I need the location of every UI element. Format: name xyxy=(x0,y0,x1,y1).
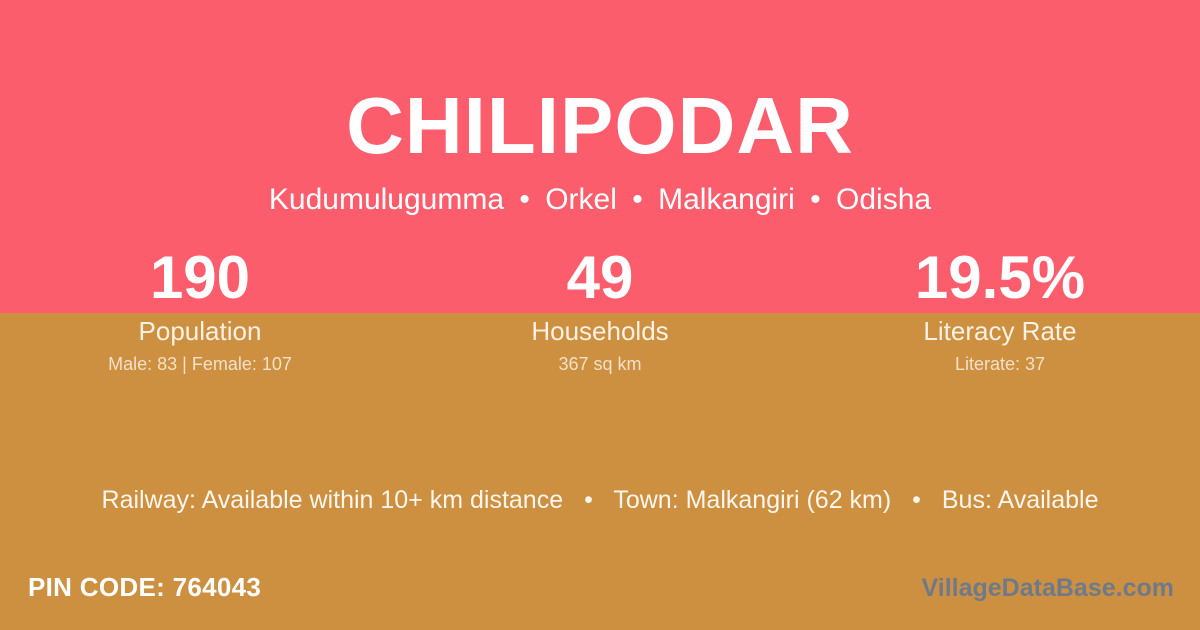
stat-value: 49 xyxy=(400,243,800,313)
stat-literacy-rate: 19.5% Literacy Rate Literate: 37 xyxy=(800,243,1200,376)
breadcrumb-panchayat: Kudumulugumma xyxy=(269,183,504,216)
breadcrumb: Kudumulugumma • Orkel • Malkangiri • Odi… xyxy=(0,180,1200,220)
stat-population: 190 Population Male: 83 | Female: 107 xyxy=(0,243,400,376)
stat-label: Population xyxy=(0,315,400,347)
transport-railway: Railway: Available within 10+ km distanc… xyxy=(102,486,564,514)
breadcrumb-separator: • xyxy=(625,183,650,216)
transport-town: Town: Malkangiri (62 km) xyxy=(613,486,891,514)
stat-value: 19.5% xyxy=(800,243,1200,313)
stat-value: 190 xyxy=(0,243,400,313)
pin-code: PIN CODE: 764043 xyxy=(28,570,261,604)
transport-info: Railway: Available within 10+ km distanc… xyxy=(0,482,1200,518)
stat-households: 49 Households 367 sq km xyxy=(400,243,800,376)
card-footer: PIN CODE: 764043 VillageDataBase.com xyxy=(0,558,1200,630)
stat-sublabel: Male: 83 | Female: 107 xyxy=(0,352,400,376)
breadcrumb-separator: • xyxy=(803,183,828,216)
page-title: CHILIPODAR xyxy=(0,78,1200,174)
transport-separator: • xyxy=(898,486,935,514)
breadcrumb-district: Malkangiri xyxy=(658,183,795,216)
breadcrumb-block: Orkel xyxy=(545,183,617,216)
transport-separator: • xyxy=(570,486,607,514)
site-brand: VillageDataBase.com xyxy=(922,572,1174,604)
breadcrumb-separator: • xyxy=(512,183,537,216)
stat-sublabel: Literate: 37 xyxy=(800,352,1200,376)
stats-row: 190 Population Male: 83 | Female: 107 49… xyxy=(0,243,1200,376)
village-info-card: CHILIPODAR Kudumulugumma • Orkel • Malka… xyxy=(0,0,1200,630)
breadcrumb-state: Odisha xyxy=(836,183,931,216)
stat-sublabel: 367 sq km xyxy=(400,352,800,376)
stat-label: Households xyxy=(400,315,800,347)
transport-bus: Bus: Available xyxy=(942,486,1099,514)
stat-label: Literacy Rate xyxy=(800,315,1200,347)
